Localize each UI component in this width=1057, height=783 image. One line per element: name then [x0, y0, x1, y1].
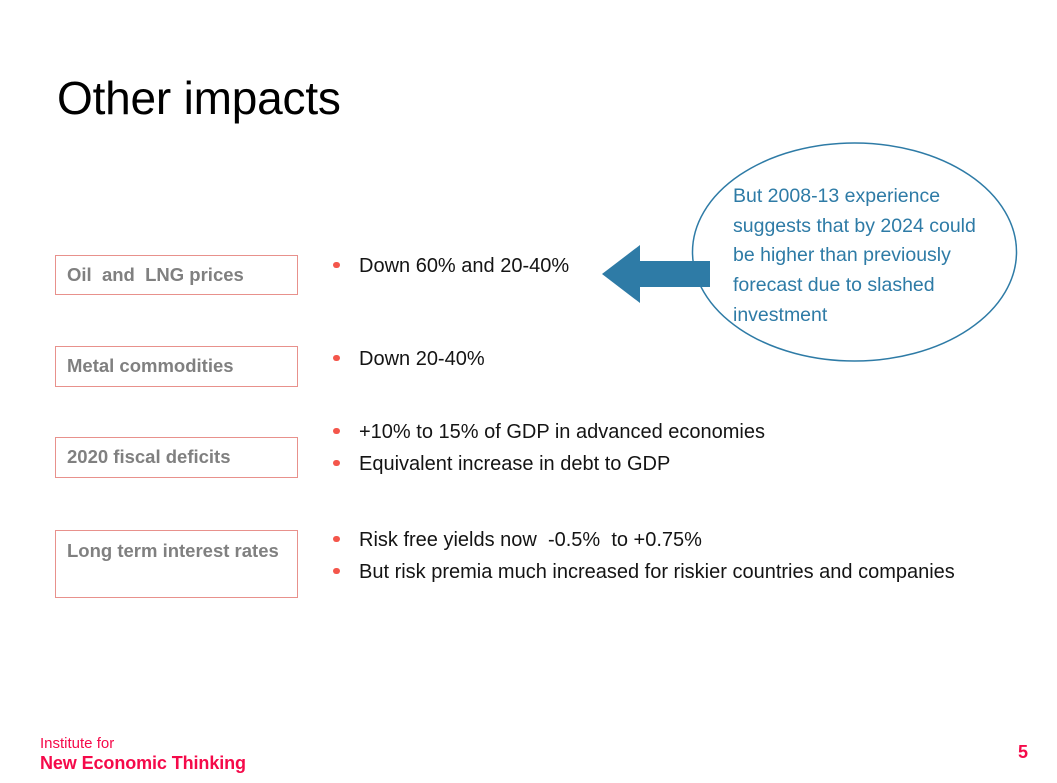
bullet-text: Down 60% and 20-40%	[359, 256, 569, 276]
bullet-dot-icon	[333, 526, 359, 546]
organization-logo: Institute for New Economic Thinking	[40, 735, 246, 774]
presentation-slide: Other impacts Oil and LNG prices Metal c…	[0, 0, 1057, 783]
logo-line-new-economic-thinking: New Economic Thinking	[40, 753, 246, 774]
logo-line-institute-for: Institute for	[40, 735, 246, 753]
list-item: +10% to 15% of GDP in advanced economies	[333, 422, 765, 442]
callout-text: But 2008-13 experience suggests that by …	[733, 182, 988, 330]
bullet-dot-icon	[333, 450, 359, 470]
category-label: Long term interest rates	[67, 539, 279, 564]
bullet-dot-icon	[333, 418, 359, 438]
category-label: Metal commodities	[67, 354, 234, 379]
list-item: Risk free yields now -0.5% to +0.75%	[333, 530, 955, 550]
bullet-text: Risk free yields now -0.5% to +0.75%	[359, 530, 955, 550]
bullet-text: Down 20-40%	[359, 349, 485, 369]
bullet-text: But risk premia much increased for riski…	[359, 562, 955, 582]
category-box-long-term-interest-rates: Long term interest rates	[55, 530, 298, 598]
list-item: Down 60% and 20-40%	[333, 256, 569, 276]
category-label: Oil and LNG prices	[67, 263, 244, 288]
list-item: Down 20-40%	[333, 349, 485, 369]
list-item: Equivalent increase in debt to GDP	[333, 454, 765, 474]
list-item: But risk premia much increased for riski…	[333, 562, 955, 582]
bullet-group-long-term-interest-rates: Risk free yields now -0.5% to +0.75% But…	[333, 530, 955, 582]
category-box-oil-and-lng-prices: Oil and LNG prices	[55, 255, 298, 295]
page-title: Other impacts	[57, 73, 341, 125]
bullet-dot-icon	[333, 558, 359, 578]
bullet-group-oil-and-lng-prices: Down 60% and 20-40%	[333, 256, 569, 276]
left-arrow-icon	[602, 243, 710, 305]
category-box-2020-fiscal-deficits: 2020 fiscal deficits	[55, 437, 298, 478]
bullet-text: +10% to 15% of GDP in advanced economies	[359, 422, 765, 442]
category-box-metal-commodities: Metal commodities	[55, 346, 298, 387]
bullet-dot-icon	[333, 252, 359, 272]
bullet-group-metal-commodities: Down 20-40%	[333, 349, 485, 369]
bullet-group-2020-fiscal-deficits: +10% to 15% of GDP in advanced economies…	[333, 422, 765, 474]
category-label: 2020 fiscal deficits	[67, 445, 231, 470]
callout-ellipse-annotation: But 2008-13 experience suggests that by …	[691, 142, 1018, 362]
page-number: 5	[1018, 742, 1028, 763]
bullet-text: Equivalent increase in debt to GDP	[359, 454, 765, 474]
bullet-dot-icon	[333, 345, 359, 365]
